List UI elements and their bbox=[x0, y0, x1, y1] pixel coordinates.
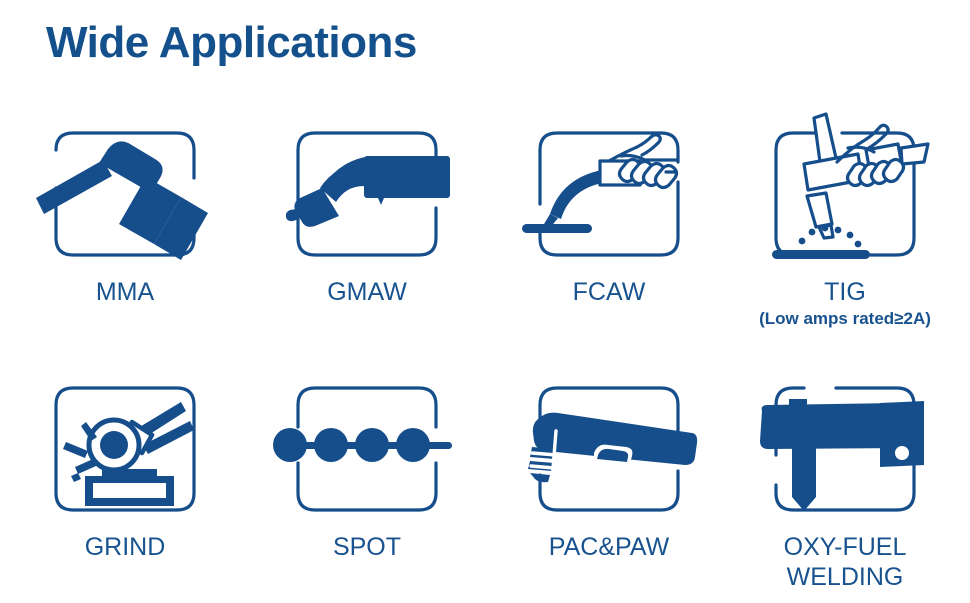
application-label: GMAW bbox=[246, 278, 488, 308]
application-label: GRIND bbox=[4, 533, 246, 563]
application-label: FCAW bbox=[488, 278, 730, 308]
applications-grid: MMA bbox=[0, 96, 970, 600]
mig-gun-icon bbox=[284, 104, 450, 270]
plasma-torch-icon bbox=[526, 359, 692, 525]
page-title: Wide Applications bbox=[46, 18, 417, 69]
application-label: MMA bbox=[4, 278, 246, 308]
hand-holding-torch-icon bbox=[526, 104, 692, 270]
angle-grinder-icon bbox=[42, 359, 208, 525]
spot-welds-icon bbox=[284, 359, 450, 525]
application-label: SPOT bbox=[246, 533, 488, 563]
application-item-grind[interactable]: GRIND bbox=[4, 351, 246, 603]
application-label: OXY-FUEL WELDING bbox=[724, 533, 966, 592]
application-item-pacpaw[interactable]: PAC&PAW bbox=[488, 351, 730, 603]
application-item-tig[interactable]: TIG (Low amps rated≥2A) bbox=[724, 96, 966, 348]
tig-torch-spatter-icon bbox=[762, 104, 928, 270]
application-item-gmaw[interactable]: GMAW bbox=[246, 96, 488, 348]
electrode-holder-icon bbox=[42, 104, 208, 270]
application-sublabel: (Low amps rated≥2A) bbox=[724, 309, 966, 329]
application-label: TIG bbox=[724, 278, 966, 308]
application-item-fcaw[interactable]: FCAW bbox=[488, 96, 730, 348]
cutting-torch-icon bbox=[762, 359, 928, 525]
wide-applications-panel: Wide Applications bbox=[0, 0, 970, 600]
application-item-spot[interactable]: SPOT bbox=[246, 351, 488, 603]
application-item-mma[interactable]: MMA bbox=[4, 96, 246, 348]
application-label: PAC&PAW bbox=[488, 533, 730, 563]
application-item-oxyfuel[interactable]: OXY-FUEL WELDING bbox=[724, 351, 966, 603]
